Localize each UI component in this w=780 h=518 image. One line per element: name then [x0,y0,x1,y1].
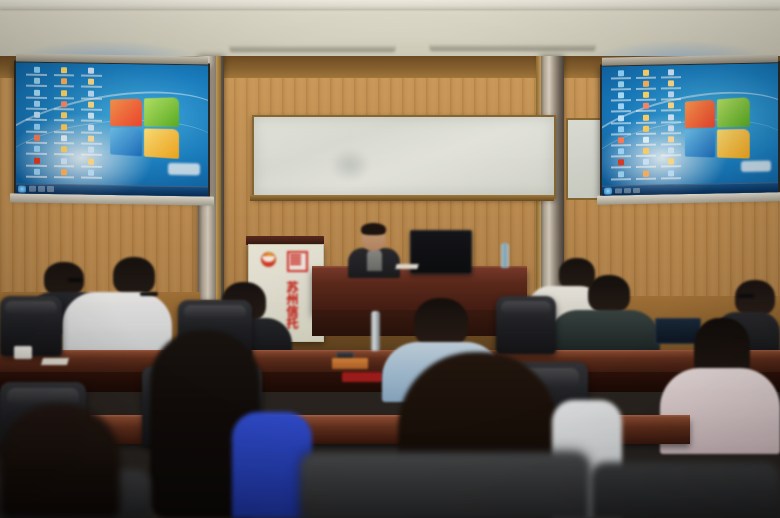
whiteboard-panel-right-edge [566,118,604,200]
desktop-icon[interactable] [609,126,633,137]
attendee-foreground-far-left [0,404,120,518]
desktop-icon[interactable] [659,136,683,147]
desktop-icon[interactable] [659,114,683,125]
ceiling-cornice [0,0,780,9]
desktop-icon[interactable] [634,103,658,114]
desktop-icon[interactable] [634,125,658,136]
taskbar-item[interactable] [633,188,640,194]
document-papers [395,264,418,269]
projection-screen-left [14,60,210,198]
water-bottle [501,243,509,268]
desktop-icon[interactable] [51,169,77,180]
desktop-icon[interactable] [609,115,633,126]
eyeglasses-icon [140,292,158,296]
desktop-icon[interactable] [51,158,77,169]
eyeglasses-icon [68,278,82,282]
desktop-icon[interactable] [24,78,50,89]
desktop-icon[interactable] [24,135,50,146]
desktop-icon[interactable] [609,81,633,92]
whiteboard-marker-tray [250,195,554,201]
desktop-icon[interactable] [659,80,683,91]
desktop-icon[interactable] [78,67,104,78]
desktop-icon[interactable] [24,123,50,134]
desktop-icon[interactable] [51,112,77,123]
desktop-icon[interactable] [24,169,50,180]
desktop-tooltip-blob [741,160,771,172]
start-button-icon[interactable] [604,187,612,194]
desktop-icon[interactable] [78,170,104,181]
desktop-icon[interactable] [51,67,77,78]
desktop-icon[interactable] [659,159,683,170]
taskbar-item[interactable] [47,186,54,192]
windows7-desktop-left [16,62,208,196]
desktop-icon[interactable] [634,92,658,103]
speaker-hair [361,223,386,235]
desktop-icon[interactable] [78,124,104,135]
desktop-icon[interactable] [659,69,683,80]
attendee-head [113,257,155,295]
desktop-icon[interactable] [51,146,77,157]
desktop-icon[interactable] [78,79,104,90]
desktop-icon[interactable] [78,113,104,124]
desktop-icon[interactable] [78,90,104,101]
notepad-papers [41,358,69,365]
desktop-icon[interactable] [609,92,633,103]
desktop-icon[interactable] [609,137,633,148]
desktop-icon[interactable] [634,69,658,80]
desktop-icon-grid-left [24,67,105,181]
desktop-icon[interactable] [659,103,683,114]
taskbar-item[interactable] [624,188,631,194]
windows7-desktop-right [602,63,778,195]
desktop-icon[interactable] [24,157,50,168]
taskbar-item[interactable] [29,186,36,192]
desktop-icon[interactable] [659,91,683,102]
whiteboard [252,115,556,199]
desktop-icon[interactable] [609,148,633,159]
windows-logo-icon [685,97,750,159]
attendee-head [414,298,468,348]
attendee-head [588,275,630,313]
taskbar-item[interactable] [615,188,622,194]
desktop-icon[interactable] [659,147,683,158]
eyeglasses-icon [738,294,754,298]
windows-logo-icon [110,97,179,158]
start-button-icon[interactable] [18,185,26,192]
desktop-icon[interactable] [78,101,104,112]
conference-chair[interactable] [496,296,556,354]
desktop-icon[interactable] [659,125,683,136]
conference-room-photo: 苏州信托 [0,0,780,518]
desktop-icon[interactable] [78,147,104,158]
desktop-icon[interactable] [609,171,633,182]
computer-monitor [410,230,472,274]
desktop-icon[interactable] [634,148,658,159]
attendee-head [735,280,775,316]
desktop-icon[interactable] [24,101,50,112]
desktop-icon[interactable] [609,104,633,115]
ceiling-light-fixture-left [230,44,395,51]
desktop-icon[interactable] [78,158,104,169]
desktop-icon[interactable] [24,89,50,100]
desktop-icon[interactable] [24,146,50,157]
desktop-icon[interactable] [634,114,658,125]
desktop-icon[interactable] [634,81,658,92]
desktop-icon[interactable] [51,90,77,101]
desktop-icon[interactable] [634,170,658,181]
desktop-icon[interactable] [51,124,77,135]
desktop-icon[interactable] [609,70,633,81]
desktop-icon[interactable] [634,159,658,170]
desktop-icon[interactable] [51,101,77,112]
desktop-icon[interactable] [51,135,77,146]
ceiling-light-fixture-right [430,43,595,50]
desktop-icon[interactable] [659,170,683,181]
desktop-icon[interactable] [78,136,104,147]
desktop-icon[interactable] [609,160,633,171]
desktop-icon-grid-right [609,69,683,181]
wall-header-band-center [222,56,542,78]
wooden-name-card-holder [332,358,368,369]
tea-cup [14,346,32,359]
red-folder [342,372,382,382]
taskbar-item[interactable] [38,186,45,192]
stainless-thermos [371,311,380,351]
desktop-icon[interactable] [51,78,77,89]
desktop-icon[interactable] [24,67,50,78]
whiteboard-smudge [330,148,370,182]
speaker-shirt [367,249,382,271]
desktop-icon[interactable] [634,137,658,148]
foreground-chair-right[interactable] [590,462,780,518]
projection-screen-right [600,61,780,197]
desktop-icon[interactable] [24,112,50,123]
desktop-tooltip-blob [168,163,201,175]
seal-inner-glyph-icon [290,254,301,265]
foreground-chair-center[interactable] [300,452,590,518]
